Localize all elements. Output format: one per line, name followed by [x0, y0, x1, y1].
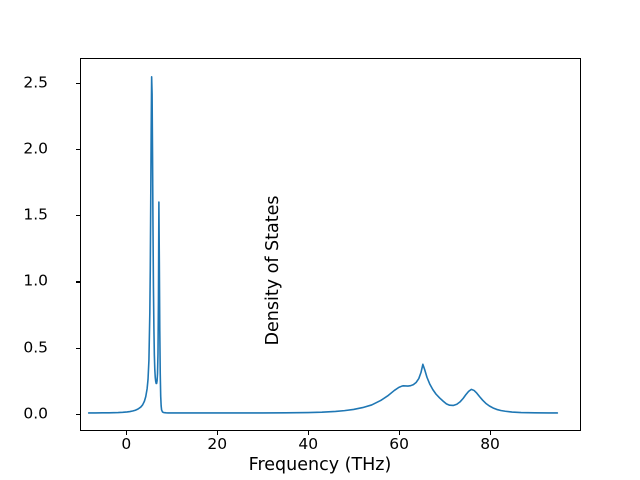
dos-line-series	[81, 59, 580, 430]
x-axis-label: Frequency (THz)	[0, 455, 640, 475]
y-axis-label-wrapper: Density of States	[18, 58, 44, 431]
plot-axes-frame	[80, 58, 581, 431]
x-tick-label: 20	[207, 437, 227, 453]
x-tick-label: 80	[480, 437, 500, 453]
y-tick-mark	[76, 281, 80, 282]
x-tick-label: 40	[298, 437, 318, 453]
y-tick-mark	[76, 414, 80, 415]
y-tick-mark	[76, 348, 80, 349]
dos-polyline	[89, 77, 558, 413]
figure-canvas: 020406080 0.00.51.01.52.02.5 Frequency (…	[0, 0, 640, 480]
y-tick-mark	[76, 149, 80, 150]
y-tick-mark	[76, 83, 80, 84]
y-axis-label: Density of States	[260, 84, 286, 457]
x-tick-label: 0	[121, 437, 131, 453]
y-tick-mark	[76, 215, 80, 216]
x-tick-label: 60	[389, 437, 409, 453]
